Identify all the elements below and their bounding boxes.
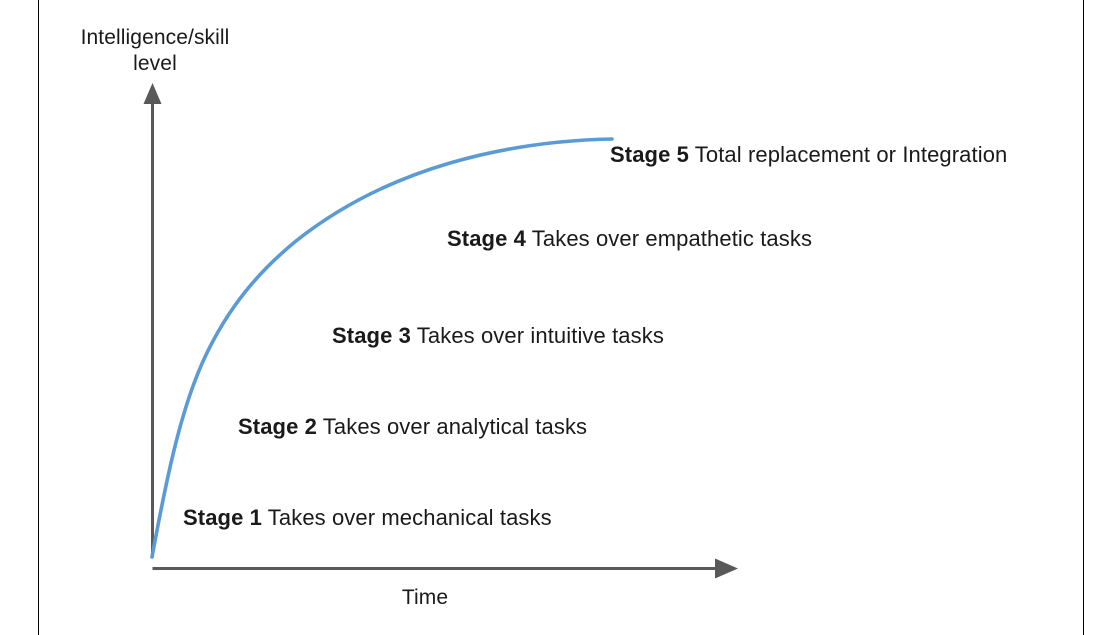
x-axis-label-text: Time (402, 586, 448, 609)
stage-3-name: Stage 3 (332, 323, 411, 348)
y-axis-label: Intelligence/skill level (40, 25, 270, 77)
stage-1-description: Takes over mechanical tasks (262, 505, 552, 530)
stage-label-2: Stage 2 Takes over analytical tasks (238, 414, 587, 440)
stage-2-description: Takes over analytical tasks (317, 414, 587, 439)
stage-label-4: Stage 4 Takes over empathetic tasks (447, 226, 812, 252)
stages-growth-curve-diagram (0, 0, 1094, 635)
stage-1-name: Stage 1 (183, 505, 262, 530)
stage-2-name: Stage 2 (238, 414, 317, 439)
stage-5-description: Total replacement or Integration (689, 142, 1007, 167)
stage-label-3: Stage 3 Takes over intuitive tasks (332, 323, 664, 349)
x-axis-label: Time (330, 585, 520, 611)
y-axis-label-text: Intelligence/skill level (81, 26, 230, 75)
arrow-right-icon (715, 559, 738, 579)
stage-3-description: Takes over intuitive tasks (411, 323, 664, 348)
stage-label-5: Stage 5 Total replacement or Integration (610, 142, 1007, 168)
arrow-up-icon (144, 83, 162, 104)
stage-4-name: Stage 4 (447, 226, 526, 251)
stage-5-name: Stage 5 (610, 142, 689, 167)
stage-4-description: Takes over empathetic tasks (526, 226, 812, 251)
stage-label-1: Stage 1 Takes over mechanical tasks (183, 505, 552, 531)
